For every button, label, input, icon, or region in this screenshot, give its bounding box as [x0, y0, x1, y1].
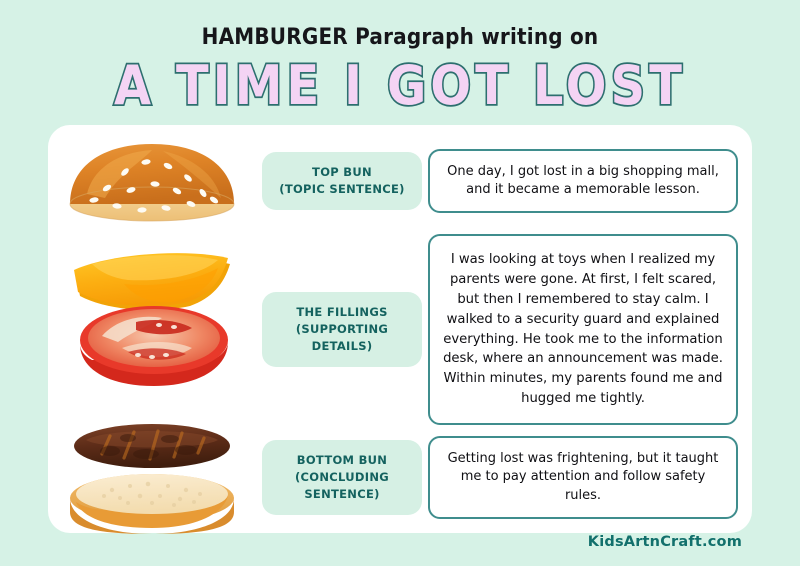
fillings-label-cell: THE FILLINGS (SUPPORTING DETAILS) [256, 292, 428, 366]
tomato-slice-shape [80, 306, 228, 386]
fillings-text-cell: I was looking at toys when I realized my… [428, 234, 752, 424]
label-fillings-line-1: THE FILLINGS [296, 305, 387, 319]
section-row-fillings: THE FILLINGS (SUPPORTING DETAILS) I was … [48, 237, 752, 422]
label-top-bun-line-2: (TOPIC SENTENCE) [279, 182, 404, 196]
content-card: TOP BUN (TOPIC SENTENCE) One day, I got … [48, 125, 752, 533]
label-fillings-line-3: DETAILS) [312, 339, 373, 353]
brand-watermark: KidsArtnCraft.com [588, 534, 742, 550]
label-top-bun: TOP BUN (TOPIC SENTENCE) [262, 152, 422, 209]
page-header: HAMBURGER Paragraph writing on A TIME I … [0, 0, 800, 108]
label-fillings: THE FILLINGS (SUPPORTING DETAILS) [262, 292, 422, 366]
top-bun-label-cell: TOP BUN (TOPIC SENTENCE) [256, 152, 428, 209]
bottom-bun-shape [70, 474, 234, 534]
fillings-icon [62, 240, 242, 420]
label-bottom-bun-line-3: SENTENCE) [304, 487, 379, 501]
label-top-bun-line-1: TOP BUN [312, 165, 372, 179]
textbox-supporting-details: I was looking at toys when I realized my… [428, 234, 738, 424]
textbox-topic-sentence: One day, I got lost in a big shopping ma… [428, 149, 738, 214]
section-row-bottom-bun: BOTTOM BUN (CONCLUDING SENTENCE) Getting… [48, 425, 752, 530]
section-row-top-bun: TOP BUN (TOPIC SENTENCE) One day, I got … [48, 127, 752, 235]
top-bun-illustration-cell [48, 138, 256, 224]
top-bun-text-cell: One day, I got lost in a big shopping ma… [428, 149, 752, 214]
label-bottom-bun-line-2: (CONCLUDING [295, 470, 389, 484]
textbox-concluding-sentence: Getting lost was frightening, but it tau… [428, 436, 738, 519]
top-bun-icon [67, 138, 237, 224]
header-subtitle: HAMBURGER Paragraph writing on [0, 25, 800, 47]
fillings-illustration-cell [48, 240, 256, 420]
cheese-slice-shape [74, 253, 230, 310]
label-bottom-bun-line-1: BOTTOM BUN [297, 453, 387, 467]
page-title: A TIME I GOT LOST [0, 58, 800, 112]
bottom-bun-text-cell: Getting lost was frightening, but it tau… [428, 436, 752, 519]
bottom-bun-illustration-cell [48, 420, 256, 536]
bottom-bun-label-cell: BOTTOM BUN (CONCLUDING SENTENCE) [256, 440, 428, 514]
label-fillings-line-2: (SUPPORTING [296, 322, 388, 336]
label-bottom-bun: BOTTOM BUN (CONCLUDING SENTENCE) [262, 440, 422, 514]
bottom-bun-and-patty-icon [62, 420, 242, 536]
beef-patty-shape [74, 424, 230, 468]
